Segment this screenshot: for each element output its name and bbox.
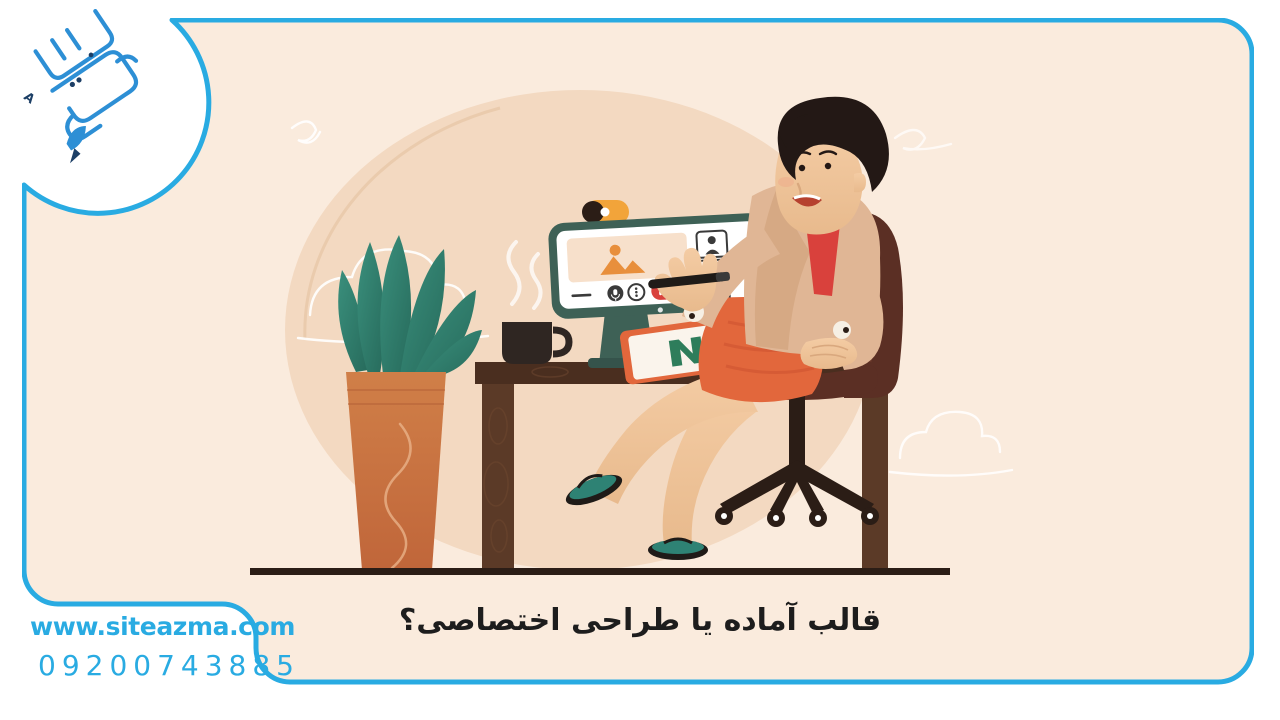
contact-block: www.siteazma.com 09200743885 [30,614,300,680]
phone-number[interactable]: 09200743885 [30,652,300,680]
banner-canvas: قالب آماده یا طراحی اختصاصی؟ [0,0,1280,720]
plant-pot [346,372,446,570]
cloud-doodle [890,412,1012,476]
bird-doodle [895,130,951,150]
floor-line [250,568,950,575]
bird-doodle [292,121,320,142]
website-link[interactable]: www.siteazma.com [30,614,300,639]
chair-cylinder [789,394,805,468]
person-ear [854,173,866,192]
logo-disc [6,0,166,156]
hero-illustration [250,90,1030,600]
mug-body [502,322,552,364]
video-main-tile[interactable] [566,232,688,282]
person-hand-lap [800,338,857,369]
brand-logo[interactable]: SITEAZMA [6,0,166,180]
participant-avatar[interactable] [696,230,727,258]
page-title: قالب آماده یا طراحی اختصاصی؟ [320,602,960,640]
